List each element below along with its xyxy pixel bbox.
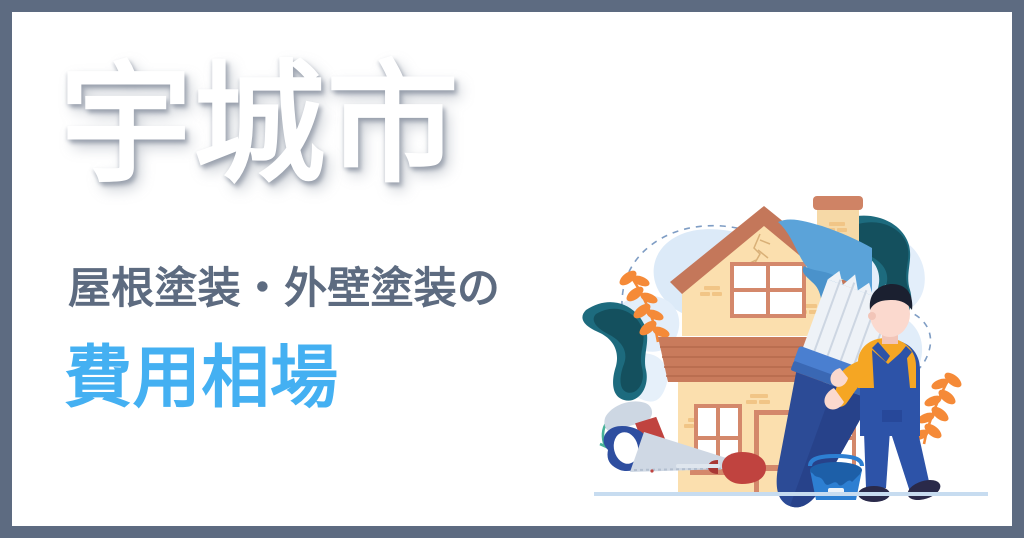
house-painting-illustration [572, 182, 1012, 512]
highlight-text: 費用相場 [64, 340, 339, 418]
page-title: 宇城市 [60, 58, 620, 193]
text-block: 宇城市 [60, 58, 620, 193]
banner-inner-panel: 宇城市 屋根塗装・外壁塗装の 費用相場 [12, 12, 1012, 526]
banner: 宇城市 屋根塗装・外壁塗装の 費用相場 [0, 0, 1024, 538]
subtitle-text: 屋根塗装・外壁塗装の [68, 265, 500, 314]
upper-window [730, 262, 806, 318]
screwdriver-shaft [676, 464, 720, 468]
screwdriver-handle [722, 452, 766, 484]
worker-front-leg [864, 430, 890, 488]
